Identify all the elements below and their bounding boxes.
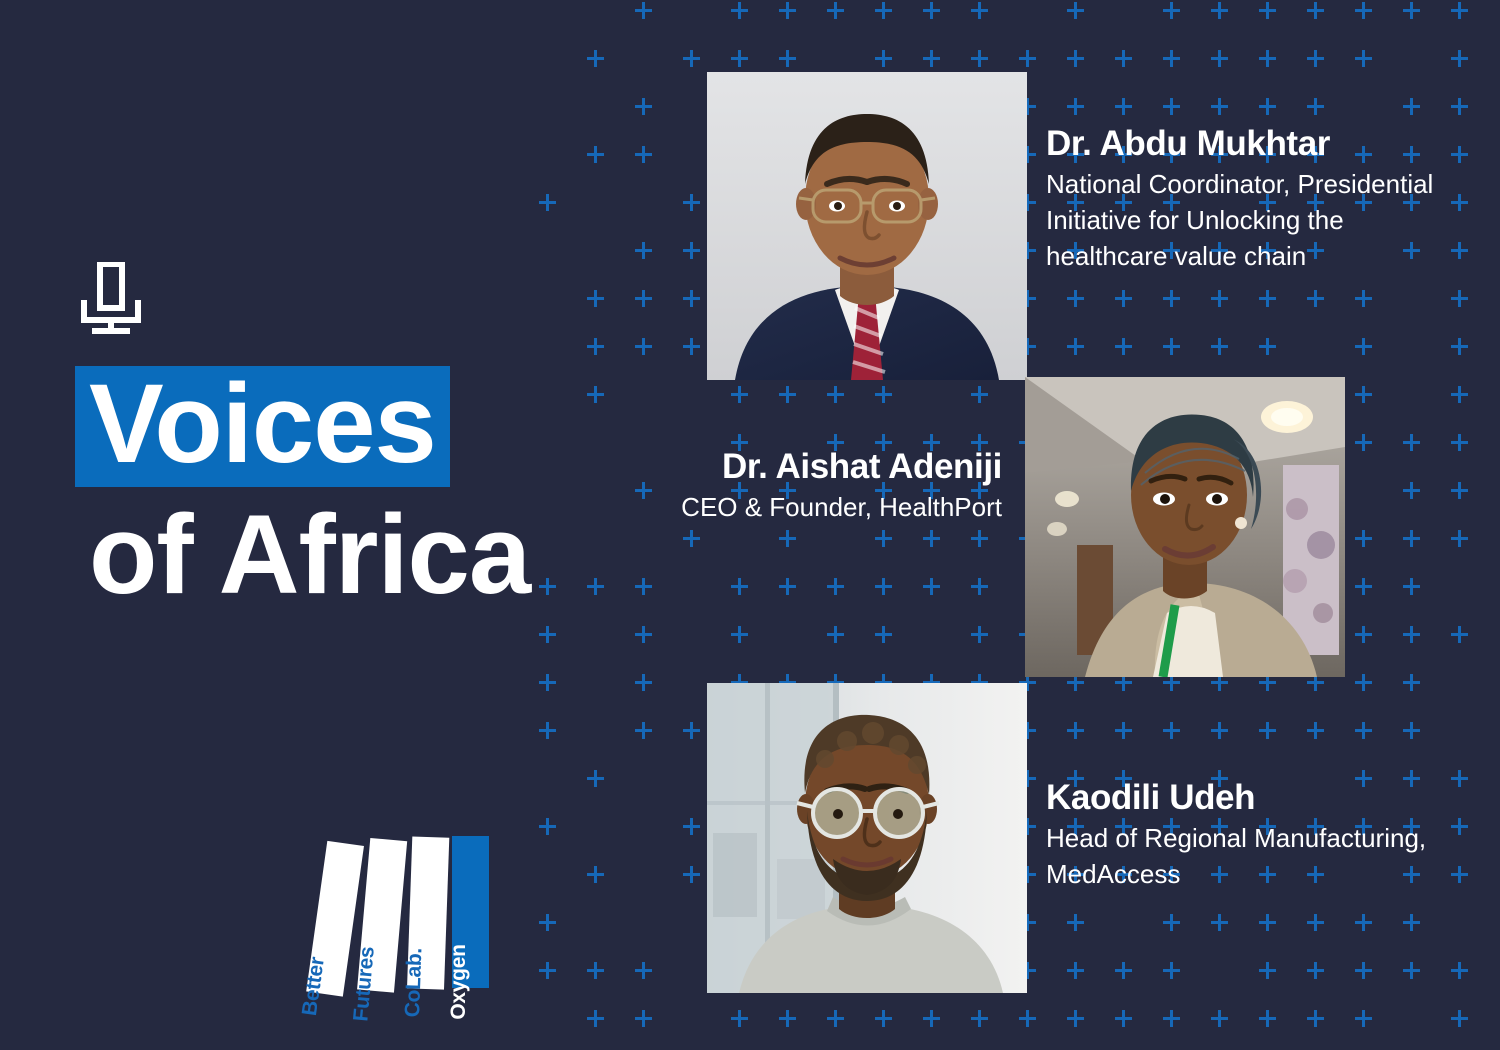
plus-mark (1451, 434, 1468, 451)
plus-mark (539, 194, 556, 211)
plus-mark (1211, 914, 1228, 931)
plus-mark (587, 770, 604, 787)
plus-mark (875, 1010, 892, 1027)
plus-mark (1403, 2, 1420, 19)
plus-mark (683, 338, 700, 355)
plus-mark (683, 194, 700, 211)
plus-mark (1403, 98, 1420, 115)
plus-mark (827, 2, 844, 19)
plus-mark (635, 722, 652, 739)
plus-mark (635, 98, 652, 115)
plus-mark (1067, 50, 1084, 67)
plus-mark (1355, 2, 1372, 19)
plus-mark (1115, 338, 1132, 355)
logo-bar-label-oxygen: Oxygen (447, 944, 471, 1019)
speaker-photo-udeh (707, 683, 1027, 993)
plus-mark (539, 818, 556, 835)
plus-mark (1259, 722, 1276, 739)
plus-mark (587, 1010, 604, 1027)
plus-mark (827, 1010, 844, 1027)
plus-mark (635, 674, 652, 691)
plus-mark (1403, 578, 1420, 595)
plus-mark (1259, 98, 1276, 115)
microphone-icon (78, 262, 144, 334)
speaker-info-mukhtar: Dr. Abdu Mukhtar National Coordinator, P… (1046, 124, 1446, 275)
plus-mark (1451, 818, 1468, 835)
plus-mark (683, 866, 700, 883)
logo-bar-label-better: Better (297, 956, 329, 1018)
plus-mark (1355, 338, 1372, 355)
plus-mark (1163, 962, 1180, 979)
speaker-name-udeh: Kaodili Udeh (1046, 778, 1446, 818)
plus-mark (1451, 338, 1468, 355)
plus-mark (731, 386, 748, 403)
plus-mark (1451, 194, 1468, 211)
plus-mark (1163, 98, 1180, 115)
logo-bar-colab: CoLab. (407, 836, 449, 989)
plus-mark (1451, 98, 1468, 115)
title-word-of-africa: of Africa (89, 511, 530, 598)
speaker-name-adeniji: Dr. Aishat Adeniji (600, 447, 1002, 487)
plus-mark (587, 290, 604, 307)
plus-mark (587, 338, 604, 355)
plus-mark (539, 722, 556, 739)
plus-mark (1163, 722, 1180, 739)
plus-mark (1067, 962, 1084, 979)
plus-mark (731, 578, 748, 595)
plus-mark (971, 530, 988, 547)
plus-mark (971, 578, 988, 595)
plus-mark (1211, 290, 1228, 307)
speaker-role-udeh: Head of Regional Manufacturing, MedAcces… (1046, 821, 1446, 893)
logo-bar-futures: Futures (357, 838, 407, 993)
plus-mark (1451, 482, 1468, 499)
plus-mark (923, 2, 940, 19)
plus-mark (1115, 962, 1132, 979)
plus-mark (1355, 1010, 1372, 1027)
plus-mark (1067, 1010, 1084, 1027)
plus-mark (1451, 866, 1468, 883)
plus-mark (1451, 2, 1468, 19)
plus-mark (1115, 1010, 1132, 1027)
plus-mark (1403, 482, 1420, 499)
plus-mark (971, 2, 988, 19)
plus-mark (875, 530, 892, 547)
logo-bar-oxygen: Oxygen (452, 836, 489, 988)
plus-mark (971, 1010, 988, 1027)
plus-mark (1451, 530, 1468, 547)
plus-mark (923, 530, 940, 547)
plus-mark (1355, 386, 1372, 403)
plus-mark (1451, 962, 1468, 979)
plus-mark (1403, 914, 1420, 931)
plus-mark (683, 818, 700, 835)
plus-mark (827, 626, 844, 643)
plus-mark (923, 1010, 940, 1027)
plus-mark (1403, 722, 1420, 739)
plus-mark (779, 386, 796, 403)
plus-mark (1451, 1010, 1468, 1027)
plus-mark (731, 50, 748, 67)
plus-mark (1355, 674, 1372, 691)
plus-mark (923, 578, 940, 595)
plus-mark (1307, 962, 1324, 979)
plus-mark (731, 2, 748, 19)
plus-mark (827, 578, 844, 595)
better-futures-colab-oxygen-logo[interactable]: Better Futures CoLab. Oxygen (300, 836, 500, 1001)
plus-mark (539, 674, 556, 691)
plus-mark (1307, 722, 1324, 739)
plus-mark (1211, 722, 1228, 739)
plus-mark (1115, 290, 1132, 307)
plus-mark (539, 914, 556, 931)
plus-mark (1451, 242, 1468, 259)
plus-mark (1019, 50, 1036, 67)
plus-mark (1019, 1010, 1036, 1027)
plus-mark (1067, 2, 1084, 19)
plus-mark (1259, 338, 1276, 355)
title-highlight-box: Voices (75, 366, 450, 487)
plus-mark (1451, 290, 1468, 307)
plus-mark (1163, 2, 1180, 19)
plus-mark (1355, 290, 1372, 307)
plus-mark (875, 50, 892, 67)
plus-mark (683, 722, 700, 739)
plus-mark (1355, 530, 1372, 547)
speaker-info-udeh: Kaodili Udeh Head of Regional Manufactur… (1046, 778, 1446, 893)
plus-mark (1403, 626, 1420, 643)
plus-mark (587, 866, 604, 883)
plus-mark (1259, 290, 1276, 307)
plus-mark (971, 626, 988, 643)
plus-mark (923, 50, 940, 67)
plus-mark (1211, 98, 1228, 115)
plus-mark (779, 50, 796, 67)
plus-mark (875, 626, 892, 643)
plus-mark (827, 386, 844, 403)
plus-mark (731, 1010, 748, 1027)
plus-mark (875, 386, 892, 403)
plus-mark (779, 1010, 796, 1027)
plus-mark (1355, 722, 1372, 739)
speaker-role-adeniji: CEO & Founder, HealthPort (600, 490, 1002, 526)
plus-mark (1067, 722, 1084, 739)
poster-canvas: Voices of Africa Better Futures CoLab. O… (0, 0, 1500, 1050)
plus-mark (1451, 146, 1468, 163)
plus-mark (1307, 914, 1324, 931)
plus-mark (1115, 50, 1132, 67)
plus-mark (635, 962, 652, 979)
plus-mark (1403, 962, 1420, 979)
plus-mark (1355, 914, 1372, 931)
plus-mark (539, 962, 556, 979)
plus-mark (1451, 626, 1468, 643)
plus-mark (587, 50, 604, 67)
plus-mark (1211, 1010, 1228, 1027)
plus-mark (1355, 626, 1372, 643)
plus-mark (587, 962, 604, 979)
plus-mark (1067, 98, 1084, 115)
title-word-voices: Voices (89, 380, 436, 467)
speaker-photo-mukhtar (707, 72, 1027, 380)
plus-mark (1307, 2, 1324, 19)
plus-mark (1067, 338, 1084, 355)
plus-mark (731, 626, 748, 643)
plus-mark (635, 290, 652, 307)
speaker-info-adeniji: Dr. Aishat Adeniji CEO & Founder, Health… (600, 447, 1002, 526)
plus-mark (1307, 50, 1324, 67)
plus-mark (1259, 914, 1276, 931)
plus-mark (683, 242, 700, 259)
plus-mark (1307, 98, 1324, 115)
plus-mark (1067, 290, 1084, 307)
plus-mark (1355, 434, 1372, 451)
plus-mark (635, 1010, 652, 1027)
plus-mark (779, 578, 796, 595)
plus-mark (971, 50, 988, 67)
plus-mark (779, 530, 796, 547)
plus-mark (539, 626, 556, 643)
plus-mark (635, 338, 652, 355)
plus-mark (1259, 1010, 1276, 1027)
plus-mark (635, 2, 652, 19)
plus-mark (1067, 914, 1084, 931)
plus-mark (875, 2, 892, 19)
speaker-name-mukhtar: Dr. Abdu Mukhtar (1046, 124, 1446, 164)
plus-mark (875, 578, 892, 595)
plus-mark (1163, 1010, 1180, 1027)
speaker-role-mukhtar: National Coordinator, Presidential Initi… (1046, 167, 1446, 275)
plus-mark (1355, 962, 1372, 979)
plus-mark (587, 146, 604, 163)
plus-mark (1355, 50, 1372, 67)
plus-mark (635, 626, 652, 643)
plus-mark (1163, 50, 1180, 67)
plus-mark (1307, 290, 1324, 307)
plus-mark (1355, 578, 1372, 595)
plus-mark (1115, 98, 1132, 115)
plus-mark (1403, 530, 1420, 547)
plus-mark (1307, 1010, 1324, 1027)
plus-mark (635, 146, 652, 163)
plus-mark (1451, 50, 1468, 67)
plus-mark (1259, 50, 1276, 67)
plus-mark (1163, 914, 1180, 931)
plus-mark (1211, 338, 1228, 355)
plus-mark (971, 386, 988, 403)
plus-mark (1163, 290, 1180, 307)
speaker-photo-adeniji (1025, 377, 1345, 677)
plus-mark (779, 2, 796, 19)
plus-mark (1451, 770, 1468, 787)
plus-mark (683, 50, 700, 67)
plus-mark (1211, 2, 1228, 19)
logo-bar-label-futures: Futures (349, 946, 379, 1023)
plus-mark (1115, 722, 1132, 739)
plus-mark (1259, 2, 1276, 19)
plus-mark (1259, 962, 1276, 979)
logo-bar-label-colab: CoLab. (401, 947, 427, 1017)
plus-mark (635, 242, 652, 259)
plus-mark (1403, 434, 1420, 451)
plus-mark (1163, 338, 1180, 355)
plus-mark (683, 290, 700, 307)
plus-mark (1211, 50, 1228, 67)
plus-mark (1403, 674, 1420, 691)
plus-mark (1451, 386, 1468, 403)
